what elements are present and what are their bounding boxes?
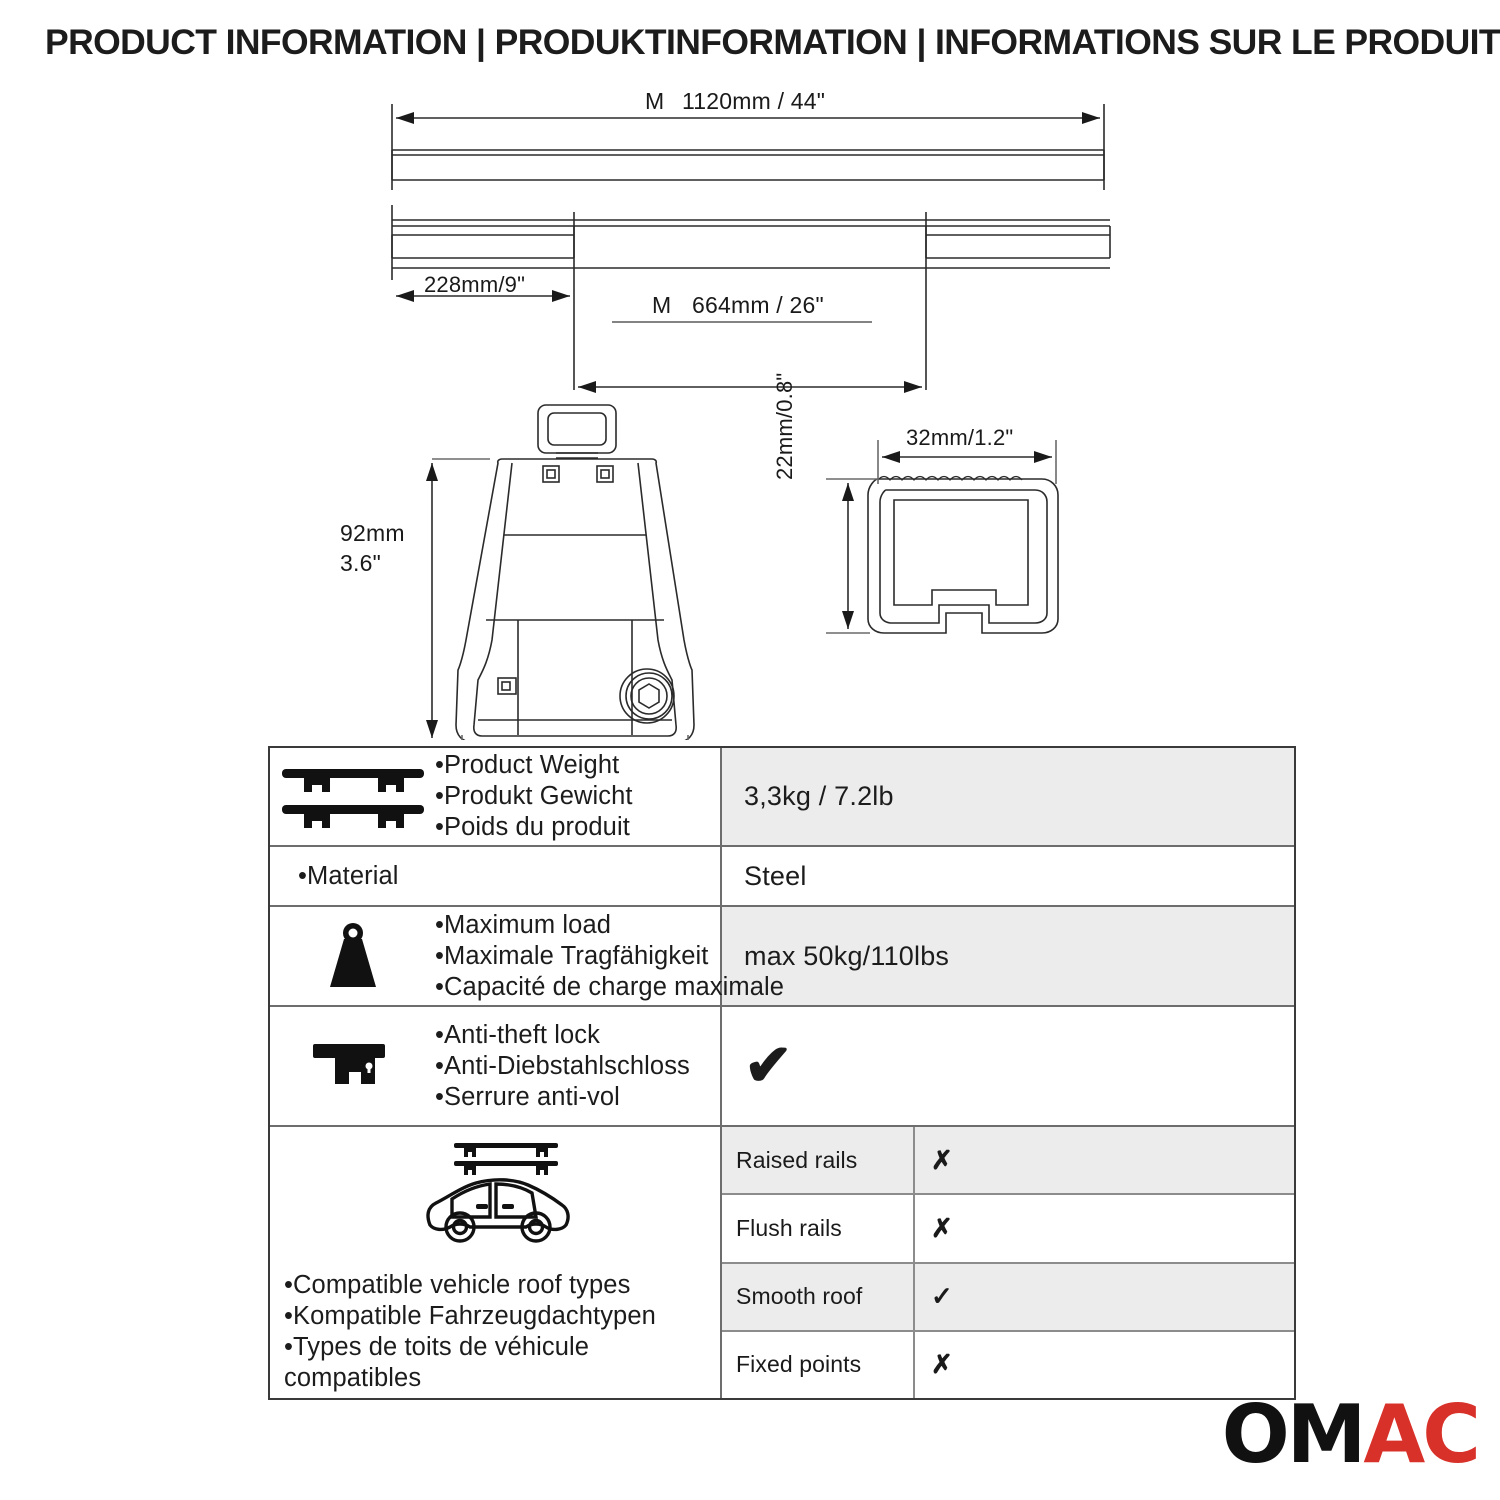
label-en: •Maximum load (435, 910, 784, 941)
profile-width-dim: 32mm/1.2" (906, 425, 1013, 451)
table-row: •Compatible vehicle roof types •Kompatib… (270, 1127, 1294, 1398)
weight-icon (270, 919, 435, 993)
label-en: •Material (298, 861, 399, 892)
technical-drawing: M 1120mm / 44" 228mm/9" M 664mm / 26" 92… (0, 80, 1500, 740)
label-de: •Kompatible Fahrzeugdachtypen (284, 1301, 720, 1332)
label-fr: •Types de toits de véhicule compatibles (284, 1332, 720, 1394)
roof-type-name: Flush rails (722, 1195, 915, 1261)
checkmark-icon: ✔ (744, 1037, 793, 1095)
page-title: PRODUCT INFORMATION | PRODUKTINFORMATION… (45, 22, 1475, 63)
roof-type-row-flush-rails: Flush rails ✗ (722, 1195, 1294, 1263)
lock-icon (270, 1034, 435, 1098)
label-de: •Produkt Gewicht (435, 781, 633, 812)
foot-height-dim-in: 3.6" (340, 550, 381, 577)
roof-type-name: Fixed points (722, 1332, 915, 1398)
spread-dim-prefix: M (652, 292, 671, 319)
cross-icon: ✗ (915, 1195, 1294, 1261)
crossbars-icon (270, 761, 435, 833)
roof-type-subtable: Raised rails ✗ Flush rails ✗ Smooth roof… (722, 1127, 1294, 1398)
roof-type-row-raised-rails: Raised rails ✗ (722, 1127, 1294, 1195)
row-value-anti-theft: ✔ (722, 1007, 1294, 1125)
label-fr: •Capacité de charge maximale (435, 972, 784, 1003)
table-row: •Anti-theft lock •Anti-Diebstahlschloss … (270, 1007, 1294, 1127)
row-label-cell: •Material (270, 847, 722, 905)
label-fr: •Serrure anti-vol (435, 1082, 690, 1113)
row-label-cell: •Maximum load •Maximale Tragfähigkeit •C… (270, 907, 722, 1005)
cross-icon: ✗ (915, 1127, 1294, 1193)
row-labels: •Material (270, 861, 399, 892)
label-de: •Maximale Tragfähigkeit (435, 941, 784, 972)
car-with-roof-rack-icon (410, 1137, 580, 1262)
row-label-cell: •Compatible vehicle roof types •Kompatib… (270, 1127, 722, 1398)
foot-offset-dim: 228mm/9" (424, 272, 525, 298)
spread-dim: 664mm / 26" (692, 292, 824, 319)
roof-type-name: Smooth roof (722, 1264, 915, 1330)
check-icon: ✓ (915, 1264, 1294, 1330)
specification-table: •Product Weight •Produkt Gewicht •Poids … (268, 746, 1296, 1400)
table-row: •Material Steel (270, 847, 1294, 907)
omac-logo: OM AC (1222, 1392, 1478, 1478)
row-label-cell: •Anti-theft lock •Anti-Diebstahlschloss … (270, 1007, 722, 1125)
roof-type-row-smooth-roof: Smooth roof ✓ (722, 1264, 1294, 1332)
row-labels: •Product Weight •Produkt Gewicht •Poids … (435, 750, 633, 843)
drawing-svg (0, 80, 1500, 740)
label-fr: •Poids du produit (435, 812, 633, 843)
table-row: •Product Weight •Produkt Gewicht •Poids … (270, 748, 1294, 847)
row-value-weight: 3,3kg / 7.2lb (722, 748, 1294, 845)
foot-height-dim-mm: 92mm (340, 520, 405, 547)
label-en: •Compatible vehicle roof types (284, 1270, 720, 1301)
logo-text-om: OM (1222, 1395, 1364, 1475)
label-en: •Anti-theft lock (435, 1020, 690, 1051)
profile-height-dim: 22mm/0.8" (772, 320, 798, 480)
bar-length-dim-prefix: M (645, 88, 664, 115)
row-labels: •Anti-theft lock •Anti-Diebstahlschloss … (435, 1020, 690, 1113)
label-en: •Product Weight (435, 750, 633, 781)
bar-length-dim: 1120mm / 44" (682, 88, 825, 115)
row-label-cell: •Product Weight •Produkt Gewicht •Poids … (270, 748, 722, 845)
roof-type-name: Raised rails (722, 1127, 915, 1193)
roof-type-row-fixed-points: Fixed points ✗ (722, 1332, 1294, 1398)
row-labels: •Maximum load •Maximale Tragfähigkeit •C… (435, 910, 784, 1003)
row-value-max-load: max 50kg/110lbs (722, 907, 1294, 1005)
row-value-material: Steel (722, 847, 1294, 905)
label-de: •Anti-Diebstahlschloss (435, 1051, 690, 1082)
table-row: •Maximum load •Maximale Tragfähigkeit •C… (270, 907, 1294, 1007)
row-labels: •Compatible vehicle roof types •Kompatib… (270, 1270, 720, 1394)
logo-text-ac: AC (1363, 1395, 1478, 1475)
